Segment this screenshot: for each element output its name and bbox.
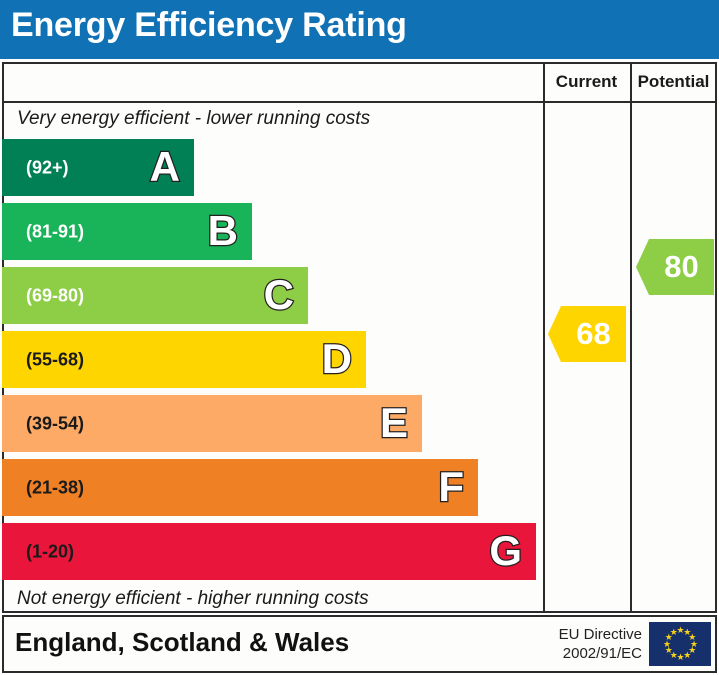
potential-rating-arrow: 80: [636, 239, 714, 295]
caption-efficient: Very energy efficient - lower running co…: [17, 108, 370, 130]
band-letter-c: C: [264, 274, 294, 316]
band-letter-b: B: [208, 210, 238, 252]
band-letter-a: A: [150, 146, 180, 188]
column-header-potential: Potential: [630, 72, 717, 92]
current-column-divider: [543, 62, 545, 613]
current-rating-arrow: 68: [548, 306, 626, 362]
rating-band-a: (92+)A: [2, 139, 194, 196]
band-letter-e: E: [380, 402, 408, 444]
rating-band-d: (55-68)D: [2, 331, 366, 388]
footer-region-label: England, Scotland & Wales: [15, 627, 349, 658]
band-range-label: (39-54): [26, 413, 84, 434]
band-range-label: (81-91): [26, 221, 84, 242]
directive-line-2: 2002/91/EC: [520, 644, 642, 663]
current-rating-value: 68: [561, 318, 626, 349]
band-range-label: (92+): [26, 157, 69, 178]
caption-inefficient: Not energy efficient - higher running co…: [17, 588, 369, 610]
rating-band-f: (21-38)F: [2, 459, 478, 516]
band-range-label: (55-68): [26, 349, 84, 370]
band-letter-f: F: [438, 466, 464, 508]
rating-band-e: (39-54)E: [2, 395, 422, 452]
eu-flag-star: ★: [670, 629, 677, 636]
directive-line-1: EU Directive: [520, 625, 642, 644]
energy-efficiency-rating-chart: Energy Efficiency Rating Current Potenti…: [0, 0, 719, 675]
band-letter-g: G: [489, 530, 522, 572]
header-divider: [2, 101, 717, 103]
title-banner: Energy Efficiency Rating: [0, 0, 719, 59]
band-range-label: (21-38): [26, 477, 84, 498]
potential-column-divider: [630, 62, 632, 613]
rating-band-c: (69-80)C: [2, 267, 308, 324]
potential-rating-value: 80: [649, 251, 714, 282]
band-range-label: (1-20): [26, 541, 74, 562]
page-title: Energy Efficiency Rating: [11, 6, 407, 45]
band-range-label: (69-80): [26, 285, 84, 306]
rating-band-g: (1-20)G: [2, 523, 536, 580]
footer-directive: EU Directive 2002/91/EC: [520, 625, 642, 663]
column-header-current: Current: [543, 72, 630, 92]
eu-flag-icon: ★★★★★★★★★★★★: [649, 622, 711, 666]
band-letter-d: D: [322, 338, 352, 380]
rating-band-b: (81-91)B: [2, 203, 252, 260]
